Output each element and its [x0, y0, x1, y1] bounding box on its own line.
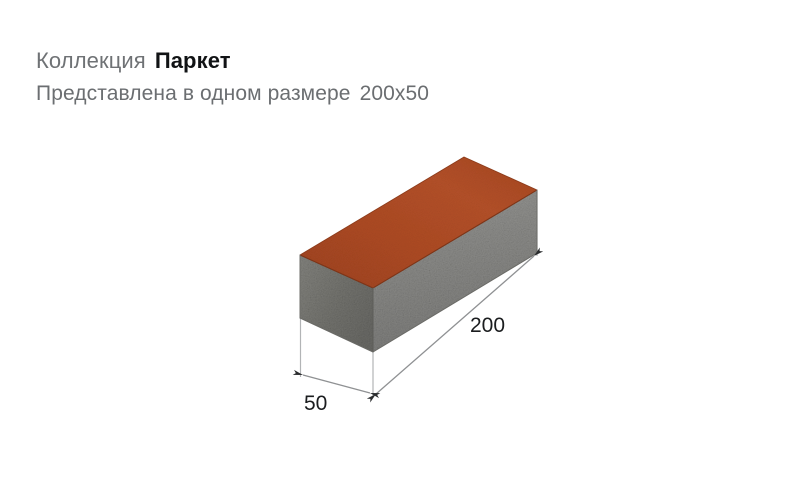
product-diagram: 200 50	[0, 0, 800, 496]
width-dimension-line	[303, 375, 370, 393]
length-dimension-label: 200	[470, 314, 505, 337]
page-root: КоллекцияПаркет Представлена в одном раз…	[0, 0, 800, 496]
paver-block-drawing: 200 50	[0, 0, 800, 496]
width-dimension: 50	[303, 375, 370, 415]
width-dimension-label: 50	[304, 392, 327, 415]
